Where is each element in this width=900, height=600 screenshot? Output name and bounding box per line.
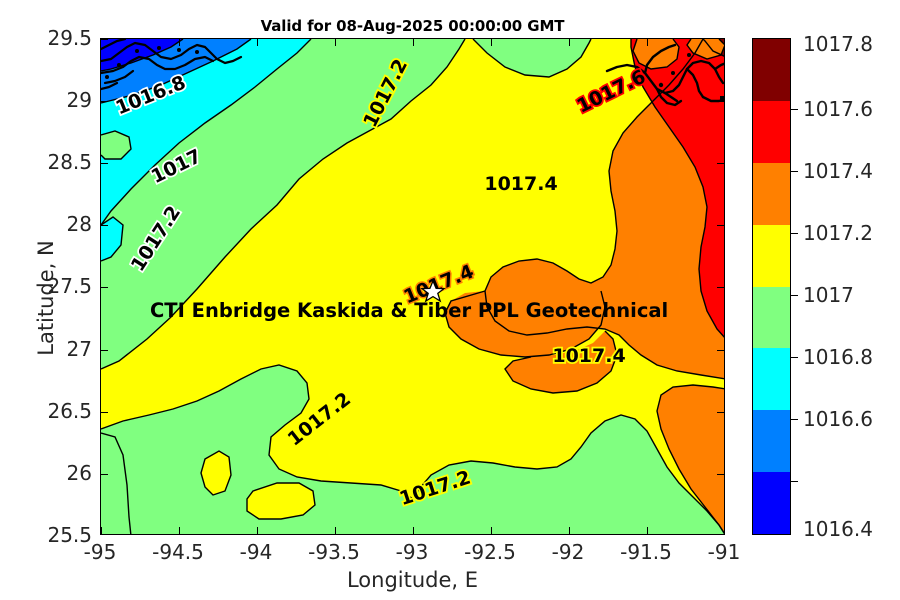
y-tick-label: 25.5 <box>30 523 92 547</box>
x-tick-label: -93 <box>396 540 429 564</box>
x-tick <box>569 527 570 534</box>
site-annotation-label: CTI Enbridge Kaskida & Tiber PPL Geotech… <box>150 299 668 322</box>
colorbar-tick <box>791 171 798 172</box>
colorbar-tick <box>791 295 798 296</box>
x-tick-top <box>413 39 414 46</box>
colorbar-band-1016.4-1016.6 <box>753 410 790 472</box>
colorbar-band-1016.6-1016.8 <box>753 348 790 410</box>
svg-text:1017.4: 1017.4 <box>552 345 625 367</box>
y-tick-right <box>717 163 724 164</box>
x-tick <box>647 527 648 534</box>
colorbar-band-1017.4-1017.6 <box>753 101 790 163</box>
y-tick <box>101 163 108 164</box>
y-tick <box>101 474 108 475</box>
x-tick-label: -91 <box>708 540 741 564</box>
colorbar-band-below-1016.4 <box>753 472 790 534</box>
x-tick <box>101 527 102 534</box>
y-tick-right <box>717 101 724 102</box>
x-tick <box>491 527 492 534</box>
colorbar-tick-label: 1017.6 <box>803 97 873 121</box>
x-tick-top <box>335 39 336 46</box>
contour-plot-area[interactable]: 1016.8 1017 1017.2 1017.2 <box>100 38 725 535</box>
y-tick <box>101 412 108 413</box>
y-axis-title: Latitude, N <box>34 168 58 428</box>
x-axis-title: Longitude, E <box>100 568 725 592</box>
colorbar-tick-label: 1017.2 <box>803 221 873 245</box>
x-tick <box>413 527 414 534</box>
colorbar-tick-label: 1017 <box>803 283 854 307</box>
y-tick <box>101 101 108 102</box>
y-tick <box>101 534 108 535</box>
colorbar-tick <box>791 419 798 420</box>
colorbar[interactable] <box>752 38 791 535</box>
y-tick <box>101 287 108 288</box>
y-tick-right <box>717 350 724 351</box>
x-tick <box>179 527 180 534</box>
x-tick-top <box>491 39 492 46</box>
colorbar-tick <box>791 357 798 358</box>
x-tick-label: -92 <box>552 540 585 564</box>
x-tick-top <box>647 39 648 46</box>
y-tick-label: 26 <box>30 461 92 485</box>
y-tick-right <box>717 474 724 475</box>
x-tick-label: -94 <box>240 540 273 564</box>
contour-map: 1016.8 1017 1017.2 1017.2 <box>101 39 725 535</box>
colorbar-band-1017.6-1017.8 <box>753 39 790 101</box>
colorbar-tick-label: 1017.4 <box>803 159 873 183</box>
colorbar-band-1017.2-1017.4 <box>753 163 790 225</box>
colorbar-tick <box>791 481 798 482</box>
x-tick-label: -94.5 <box>152 540 204 564</box>
x-tick-label: -93.5 <box>308 540 360 564</box>
y-tick-right <box>717 412 724 413</box>
svg-text:1017.4: 1017.4 <box>484 173 557 195</box>
y-tick-label: 29.5 <box>30 26 92 50</box>
x-tick <box>257 527 258 534</box>
colorbar-tick <box>791 233 798 234</box>
colorbar-tick-label: 1016.4 <box>803 517 873 541</box>
x-tick-top <box>569 39 570 46</box>
colorbar-band-1016.8-1017.0 <box>753 287 790 349</box>
x-tick-label: -92.5 <box>464 540 516 564</box>
x-tick <box>335 527 336 534</box>
x-tick-top <box>257 39 258 46</box>
y-tick-label: 29 <box>30 88 92 112</box>
y-tick <box>101 39 108 40</box>
y-tick <box>101 225 108 226</box>
colorbar-tick-label: 1016.6 <box>803 407 873 431</box>
x-tick <box>724 527 725 534</box>
x-tick-top <box>179 39 180 46</box>
y-tick-right <box>717 287 724 288</box>
colorbar-tick-label: 1017.8 <box>803 32 873 56</box>
colorbar-band-1017.0-1017.2 <box>753 225 790 287</box>
y-tick-right <box>717 225 724 226</box>
colorbar-tick <box>791 109 798 110</box>
y-tick <box>101 350 108 351</box>
x-tick-label: -91.5 <box>620 540 672 564</box>
page-title: Valid for 08-Aug-2025 00:00:00 GMT <box>100 17 725 35</box>
colorbar-tick-label: 1016.8 <box>803 345 873 369</box>
